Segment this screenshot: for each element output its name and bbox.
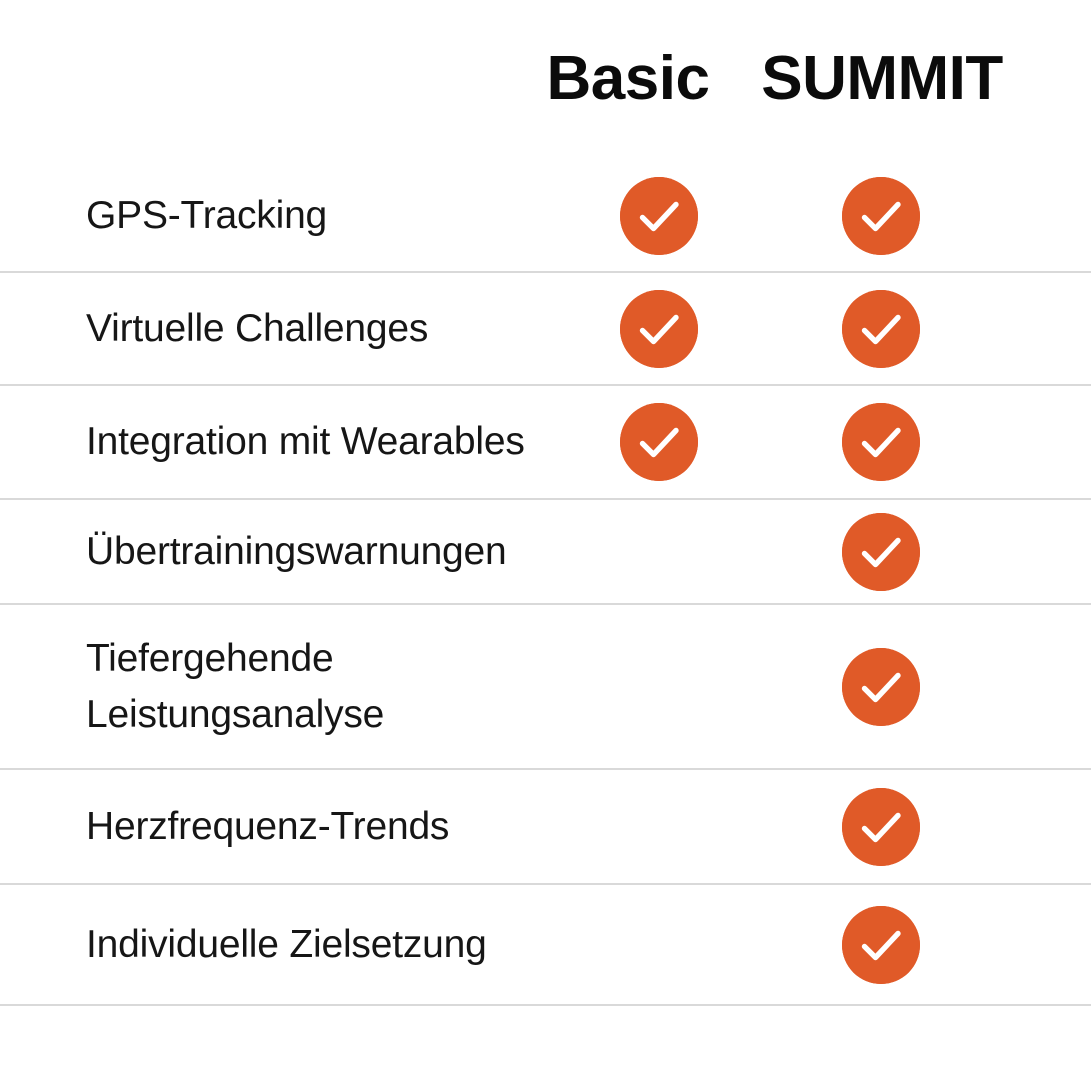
table-row: Tiefergehende Leistungsanalyse xyxy=(0,605,1091,770)
feature-rows: GPS-TrackingVirtuelle ChallengesIntegrat… xyxy=(0,160,1091,1006)
cell-basic xyxy=(620,513,698,591)
feature-label: Tiefergehende Leistungsanalyse xyxy=(86,631,384,743)
check-circle-icon xyxy=(842,648,920,726)
check-circle-icon xyxy=(620,403,698,481)
check-circle-icon xyxy=(842,177,920,255)
table-row: Integration mit Wearables xyxy=(0,386,1091,500)
cell-basic xyxy=(620,788,698,866)
check-circle-icon xyxy=(842,906,920,984)
cell-basic xyxy=(620,403,698,481)
column-header-summit: SUMMIT xyxy=(761,44,1003,114)
feature-label: Herzfrequenz-Trends xyxy=(86,799,449,855)
cell-summit xyxy=(842,906,920,984)
check-circle-icon xyxy=(620,177,698,255)
cell-summit xyxy=(842,290,920,368)
check-circle-icon xyxy=(842,403,920,481)
feature-label: Übertrainingswarnungen xyxy=(86,524,507,580)
cell-summit xyxy=(842,403,920,481)
table-row: Herzfrequenz-Trends xyxy=(0,770,1091,885)
feature-label: Individuelle Zielsetzung xyxy=(86,917,487,973)
column-header-basic: Basic xyxy=(547,44,710,114)
check-circle-icon xyxy=(620,290,698,368)
cell-summit xyxy=(842,788,920,866)
feature-label: Integration mit Wearables xyxy=(86,414,525,470)
cell-summit xyxy=(842,177,920,255)
cell-basic xyxy=(620,906,698,984)
cell-basic xyxy=(620,290,698,368)
table-row: GPS-Tracking xyxy=(0,160,1091,273)
check-circle-icon xyxy=(842,290,920,368)
plan-comparison-table: Basic SUMMIT GPS-TrackingVirtuelle Chall… xyxy=(0,0,1091,1080)
table-footer-spacer xyxy=(0,1006,1091,1043)
check-circle-icon xyxy=(842,513,920,591)
table-row: Übertrainingswarnungen xyxy=(0,500,1091,605)
cell-summit xyxy=(842,648,920,726)
feature-label: Virtuelle Challenges xyxy=(86,301,428,357)
cell-basic xyxy=(620,177,698,255)
cell-basic xyxy=(620,648,698,726)
cell-summit xyxy=(842,513,920,591)
table-row: Individuelle Zielsetzung xyxy=(0,885,1091,1006)
check-circle-icon xyxy=(842,788,920,866)
feature-label: GPS-Tracking xyxy=(86,188,327,244)
table-header: Basic SUMMIT xyxy=(0,0,1091,160)
table-row: Virtuelle Challenges xyxy=(0,273,1091,386)
